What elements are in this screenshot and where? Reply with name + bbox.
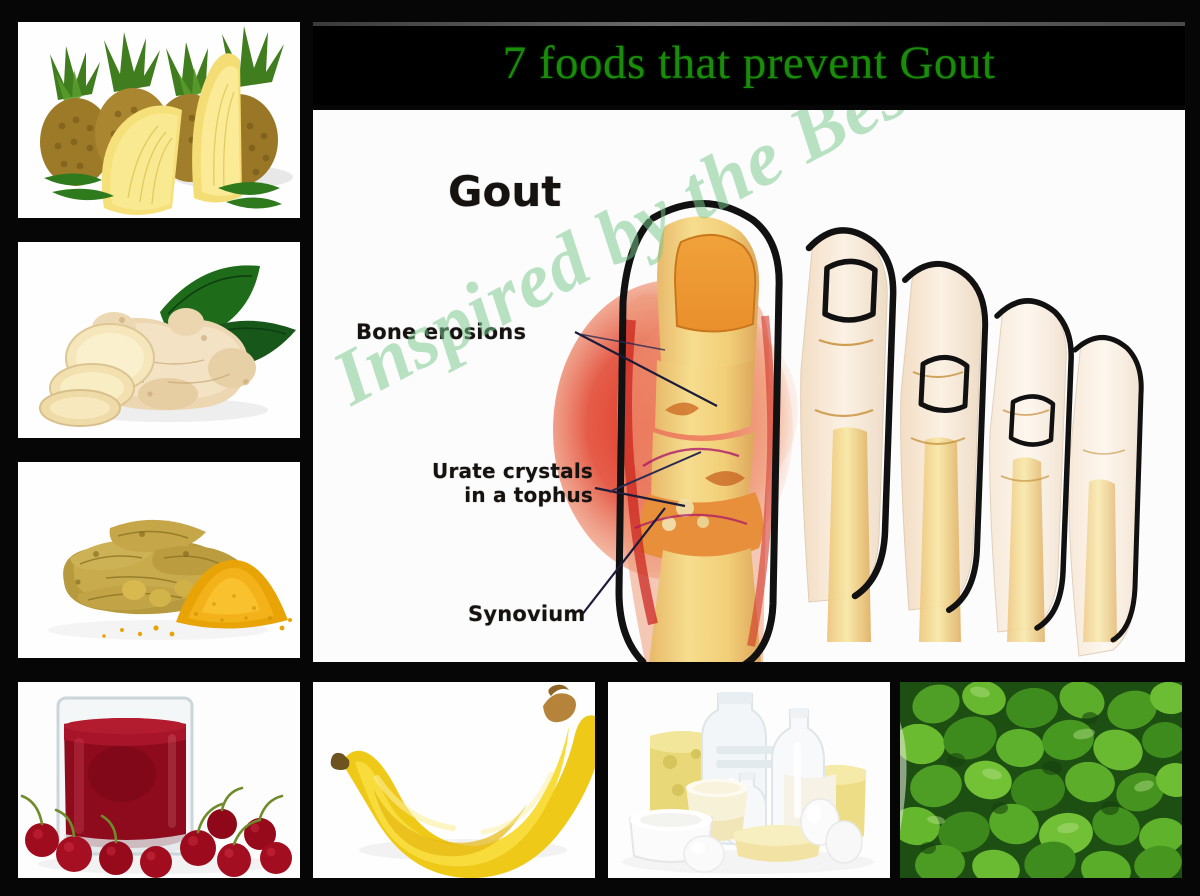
food-tile-watercress	[900, 682, 1182, 878]
banana-photo	[313, 682, 595, 878]
poster-title-bar: 7 foods that prevent Gout	[313, 22, 1185, 105]
food-tile-cherry-juice	[18, 682, 300, 878]
food-tile-dairy	[608, 682, 890, 878]
diagram-heading: Gout	[448, 167, 561, 216]
page-title: 7 foods that prevent Gout	[503, 40, 996, 87]
gout-anatomy-illustration	[313, 110, 1185, 662]
watercress-photo	[900, 682, 1182, 878]
gout-diagram-panel: Gout Bone erosions Urate crystals in a t…	[313, 110, 1185, 662]
turmeric-photo	[18, 462, 300, 658]
label-synovium: Synovium	[468, 602, 586, 626]
food-tile-banana	[313, 682, 595, 878]
label-urate-crystals: Urate crystals in a tophus	[363, 460, 593, 507]
food-tile-pineapple	[18, 22, 300, 218]
ginger-photo	[18, 242, 300, 438]
cherry-juice-photo	[18, 682, 300, 878]
gout-food-poster: 7 foods that prevent Gout	[0, 0, 1200, 896]
dairy-photo	[608, 682, 890, 878]
label-urate-line2: in a tophus	[363, 484, 593, 508]
food-tile-turmeric	[18, 462, 300, 658]
food-tile-ginger	[18, 242, 300, 438]
label-urate-line1: Urate crystals	[363, 460, 593, 484]
pineapple-photo	[18, 22, 300, 218]
label-bone-erosions: Bone erosions	[356, 320, 526, 344]
